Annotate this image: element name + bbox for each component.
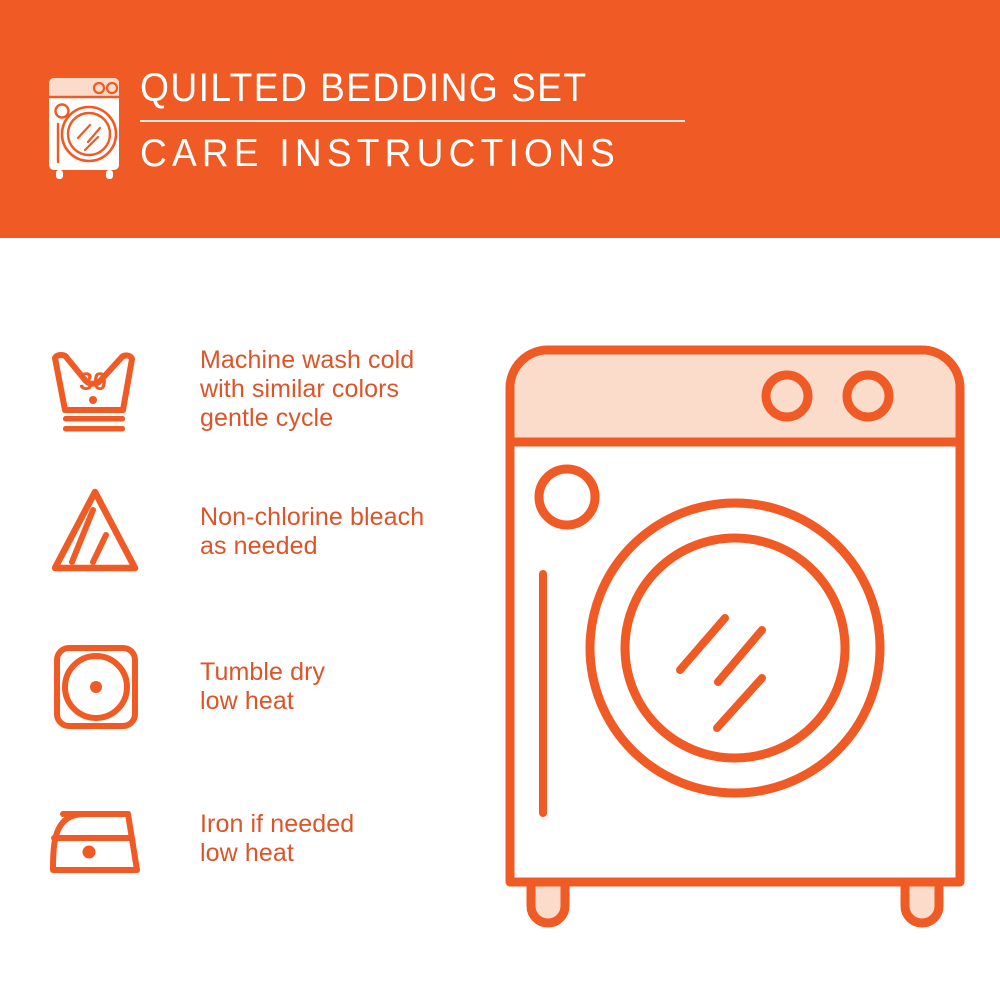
list-item: Non-chlorine bleach as needed bbox=[0, 480, 500, 620]
machine-legs bbox=[531, 882, 939, 923]
care-instructions-page: QUILTED BEDDING SET CARE INSTRUCTIONS 30… bbox=[0, 0, 1000, 1000]
list-item-label: Iron if needed low heat bbox=[200, 788, 354, 928]
list-item-label: Tumble dry low heat bbox=[200, 638, 325, 778]
page-title: QUILTED BEDDING SET bbox=[140, 62, 661, 114]
list-item: Iron if needed low heat bbox=[0, 788, 500, 928]
list-item-label: Machine wash cold with similar colors ge… bbox=[200, 338, 414, 478]
svg-text:30: 30 bbox=[79, 368, 107, 396]
large-washing-machine-illustration bbox=[490, 330, 980, 940]
leg-left bbox=[531, 882, 565, 923]
header-title-group: QUILTED BEDDING SET CARE INSTRUCTIONS bbox=[140, 62, 700, 178]
list-item-label: Non-chlorine bleach as needed bbox=[200, 480, 424, 620]
leg-right bbox=[905, 882, 939, 923]
list-item: 30 Machine wash cold with similar colors… bbox=[0, 338, 500, 478]
washing-machine-icon bbox=[44, 72, 126, 180]
header-banner: QUILTED BEDDING SET CARE INSTRUCTIONS bbox=[0, 0, 1000, 238]
non-chlorine-bleach-triangle-icon bbox=[45, 480, 165, 590]
iron-low-heat-icon bbox=[45, 788, 165, 898]
title-divider bbox=[140, 120, 685, 122]
list-item: Tumble dry low heat bbox=[0, 638, 500, 778]
page-subtitle: CARE INSTRUCTIONS bbox=[140, 130, 672, 178]
tumble-dry-low-heat-icon bbox=[45, 638, 165, 748]
machine-wash-tub-30-gentle-icon: 30 bbox=[45, 338, 165, 448]
care-instruction-list: 30 Machine wash cold with similar colors… bbox=[0, 238, 500, 1000]
